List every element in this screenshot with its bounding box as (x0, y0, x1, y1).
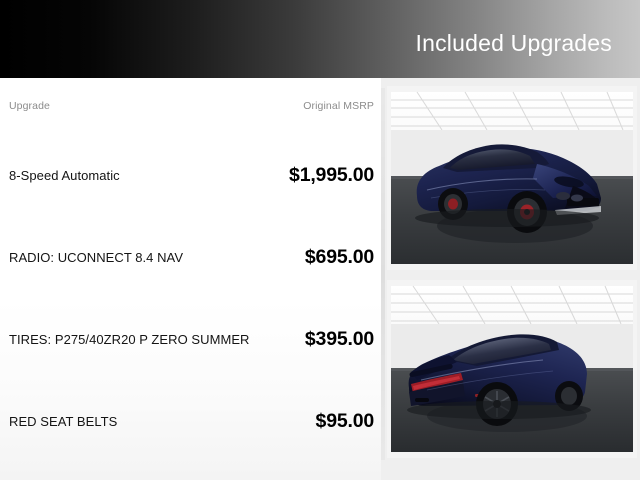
vehicle-photo-front[interactable] (387, 86, 637, 270)
page-header: Included Upgrades (0, 0, 640, 78)
upgrade-price: $95.00 (316, 410, 374, 433)
upgrade-name: TIRES: P275/40ZR20 P ZERO SUMMER (9, 332, 250, 347)
upgrade-name: RADIO: UCONNECT 8.4 NAV (9, 250, 183, 265)
table-row: TIRES: P275/40ZR20 P ZERO SUMMER $395.00 (9, 298, 374, 380)
vehicle-photo-rear[interactable] (387, 280, 637, 458)
vehicle-photo-column (387, 86, 637, 466)
pane-divider (381, 88, 385, 460)
vehicle-rear-illustration (387, 280, 637, 458)
upgrades-list: 8-Speed Automatic $1,995.00 RADIO: UCONN… (9, 134, 374, 462)
upgrade-name: 8-Speed Automatic (9, 168, 120, 183)
table-row: RED SEAT BELTS $95.00 (9, 380, 374, 462)
upgrade-price: $1,995.00 (289, 164, 374, 187)
column-header-msrp: Original MSRP (303, 100, 374, 112)
upgrade-name: RED SEAT BELTS (9, 414, 117, 429)
table-column-headers: Upgrade Original MSRP (9, 100, 374, 112)
upgrades-page: Included Upgrades Upgrade Original MSRP … (0, 0, 640, 480)
page-title: Included Upgrades (416, 22, 640, 57)
upgrades-table-pane: Upgrade Original MSRP 8-Speed Automatic … (0, 78, 381, 480)
table-row: RADIO: UCONNECT 8.4 NAV $695.00 (9, 216, 374, 298)
vehicle-front-illustration (387, 86, 637, 270)
upgrade-price: $395.00 (305, 328, 374, 351)
column-header-upgrade: Upgrade (9, 100, 50, 112)
table-row: 8-Speed Automatic $1,995.00 (9, 134, 374, 216)
upgrade-price: $695.00 (305, 246, 374, 269)
